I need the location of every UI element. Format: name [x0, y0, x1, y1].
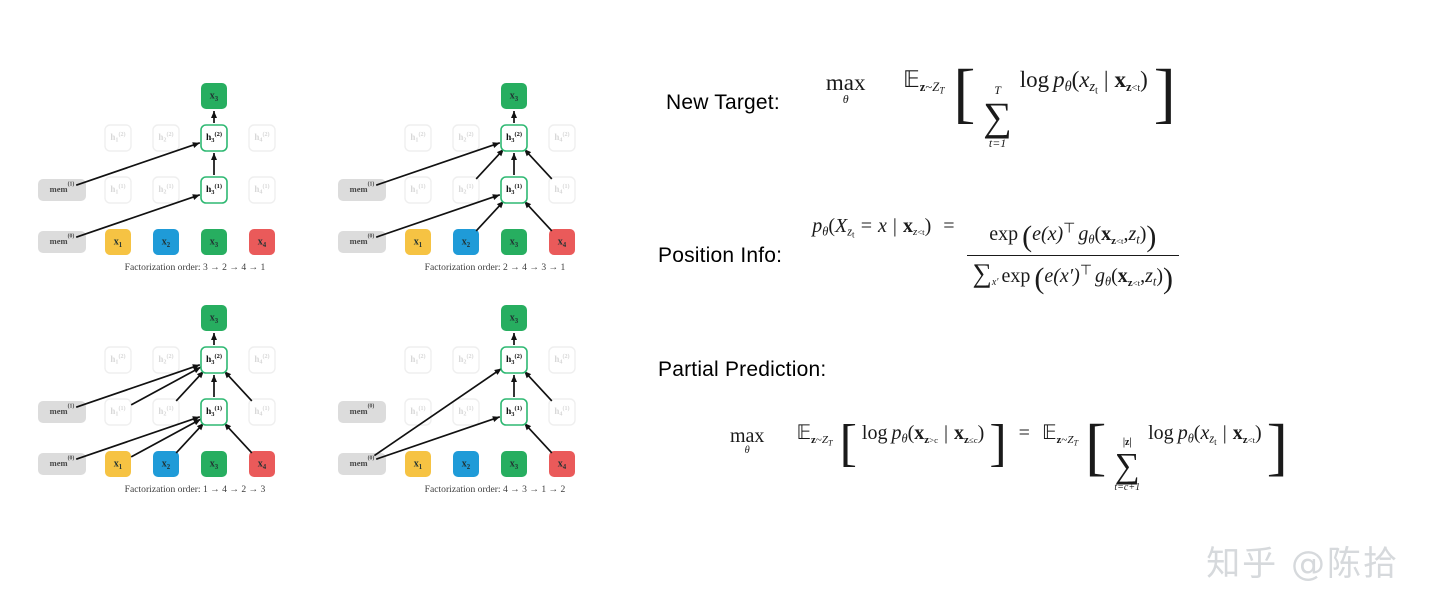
position-info-label: Position Info: [658, 244, 782, 268]
permutation-diagram-grid: h1(2)h2(2)h4(2)h1(1)h2(1)h4(1)mem(1)mem(… [0, 0, 640, 500]
edge-to-h1-from-mem0 [376, 195, 500, 237]
position-info-numerator: exp(e(x)⊤gθ(xz<t,zt)) [983, 220, 1162, 255]
panel-bottom-right: h1(2)h2(2)h4(2)h1(1)h2(1)h4(1)mem(0)mem(… [300, 282, 600, 504]
edge-to-h1-from-mem0 [76, 195, 200, 237]
panel-top-right: h1(2)h2(2)h4(2)h1(1)h2(1)h4(1)mem(1)mem(… [300, 60, 600, 282]
p-symbol: p [1053, 67, 1065, 92]
sum-operator: ∑ [983, 97, 1012, 137]
p-subscript-theta: θ [1065, 79, 1072, 95]
log-operator: log [1020, 67, 1049, 92]
position-info-row: Position Info: pθ(Xzt= x|xz<t) = exp(e(x… [658, 215, 1179, 296]
position-info-formula: pθ(Xzt= x|xz<t) = exp(e(x)⊤gθ(xz<t,zt)) … [812, 215, 1179, 296]
edge-to-h1-from-mem0-head [492, 416, 500, 422]
edge-to-h1-from-mem0 [376, 417, 500, 459]
partial-prediction-row: Partial Prediction: max θ 𝔼z~ZT [ logpθ(… [658, 358, 1288, 493]
edge-h1-to-h2-head [211, 153, 217, 160]
edge-h2-to-output-head [511, 333, 517, 340]
factorization-order-caption: Factorization order: 3 → 2 → 4 → 1 [125, 262, 266, 273]
new-target-row: New Target: max θ 𝔼z~ZT [ T ∑ t=1 logpθ(… [666, 56, 1176, 150]
new-target-label: New Target: [666, 91, 780, 115]
panel-top-right-canvas: h1(2)h2(2)h4(2)h1(1)h2(1)h4(1)mem(1)mem(… [300, 60, 600, 282]
partial-prediction-formula: max θ 𝔼z~ZT [ logpθ(xz>c|xz≤c) ] = 𝔼z~ZT… [730, 410, 1288, 493]
edge-h2-to-output-head [211, 333, 217, 340]
factorization-order-caption: Factorization order: 1 → 4 → 2 → 3 [125, 484, 266, 495]
edge-h1-to-h2-head [511, 375, 517, 382]
edge-to-h2-from-mem1-head [492, 142, 500, 148]
panel-bottom-left-canvas: h1(2)h2(2)h4(2)h1(1)h2(1)h4(1)mem(1)mem(… [0, 282, 300, 504]
edge-h2-to-output-head [211, 111, 217, 118]
factorization-order-caption: Factorization order: 4 → 3 → 1 → 2 [425, 484, 566, 495]
panel-top-left-canvas: h1(2)h2(2)h4(2)h1(1)h2(1)h4(1)mem(1)mem(… [0, 60, 300, 282]
panel-bottom-right-canvas: h1(2)h2(2)h4(2)h1(1)h2(1)h4(1)mem(0)mem(… [300, 282, 600, 504]
panel-top-left: h1(2)h2(2)h4(2)h1(1)h2(1)h4(1)mem(1)mem(… [0, 60, 300, 282]
factorization-order-caption: Factorization order: 2 → 4 → 3 → 1 [425, 262, 566, 273]
theta-symbol: θ [843, 94, 849, 106]
sum-lower-limit-tc1: t=c+1 [1114, 483, 1140, 493]
edge-h1-to-h2-head [211, 375, 217, 382]
edge-h1-to-h2-head [511, 153, 517, 160]
edge-to-h1-from-mem0-head [192, 194, 200, 200]
edge-to-h2-from-mem1-head [192, 142, 200, 148]
slide-root: h1(2)h2(2)h4(2)h1(1)h2(1)h4(1)mem(1)mem(… [0, 0, 1437, 607]
equations-area: New Target: max θ 𝔼z~ZT [ T ∑ t=1 logpθ(… [648, 0, 1437, 560]
edge-to-h2-from-mem1 [376, 143, 500, 185]
edge-to-h1-from-mem0-head [492, 194, 500, 200]
max-operator: max [826, 71, 866, 94]
position-info-denominator: ∑x′exp(e(x′)⊤gθ(xz<t,zt)) [967, 255, 1179, 296]
edge-to-h2-from-mem1 [76, 143, 200, 185]
new-target-formula: max θ 𝔼z~ZT [ T ∑ t=1 logpθ(xzt|xz<t) ] [826, 56, 1176, 150]
panel-bottom-left: h1(2)h2(2)h4(2)h1(1)h2(1)h4(1)mem(1)mem(… [0, 282, 300, 504]
edge-h2-to-output-head [511, 111, 517, 118]
edge-to-h2-from-mem0 [374, 368, 501, 455]
partial-prediction-label: Partial Prediction: [658, 358, 1288, 382]
zhihu-watermark: 知乎 @陈拾 [1206, 536, 1399, 585]
sum-lower-limit: t=1 [989, 138, 1006, 150]
expectation-operator: 𝔼z~ZT [903, 67, 945, 92]
